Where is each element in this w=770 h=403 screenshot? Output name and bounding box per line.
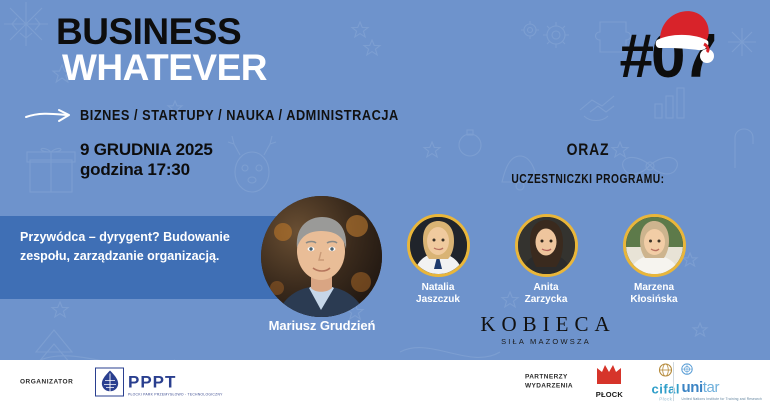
- participant-avatar: [407, 214, 470, 277]
- event-date: 9 GRUDNIA 2025: [80, 140, 213, 160]
- partners-label: PARTNERZY WYDARZENIA: [525, 372, 573, 391]
- arrow-right-icon: [24, 108, 72, 124]
- participant-name: Natalia Jaszczuk: [396, 282, 480, 306]
- event-topic: Przywódca – dyrygent? Budowanie zespołu,…: [20, 228, 282, 267]
- unitar-name-bold: uni: [681, 379, 702, 396]
- partners-label-line2: WYDARZENIA: [525, 383, 573, 390]
- speaker-avatar: [261, 196, 382, 317]
- plock-crown-icon: [596, 365, 622, 385]
- program-logo-tagline: SIŁA MAZOWSZA: [470, 337, 620, 346]
- tagline-row: BIZNES / STARTUPY / NAUKA / ADMINISTRACJ…: [24, 108, 442, 124]
- tagline-text: BIZNES / STARTUPY / NAUKA / ADMINISTRACJ…: [80, 108, 399, 124]
- event-time: godzina 17:30: [80, 160, 213, 180]
- pppt-full-name: PŁOCKI PARK PRZEMYSŁOWO - TECHNOLOGICZNY: [128, 392, 223, 396]
- program-logo-name: KOBIECA: [470, 314, 620, 335]
- footer-bar: ORGANIZATOR PPPT PŁOCKI PARK PRZEMYSŁOWO…: [0, 360, 770, 403]
- cifal-globe-icon: [658, 362, 673, 377]
- participants-list: Natalia Jaszczuk Anita Zarzycka: [396, 214, 696, 306]
- participant-last-name: Kłosińska: [630, 294, 677, 305]
- organizer-label: ORGANIZATOR: [20, 378, 73, 385]
- santa-hat-icon: [654, 8, 716, 66]
- partner-logo-plock: PŁOCK: [596, 365, 623, 399]
- pppt-leaf-icon: [95, 367, 124, 396]
- pppt-acronym: PPPT: [128, 373, 223, 390]
- title-line-business: BUSINESS: [56, 14, 267, 50]
- event-poster: BUSINESS WHATEVER BIZNES / STARTUPY / NA…: [0, 0, 770, 403]
- participant-name: Marzena Kłosińska: [612, 282, 696, 306]
- participant-last-name: Jaszczuk: [416, 294, 460, 305]
- pppt-wordmark: PPPT PŁOCKI PARK PRZEMYSŁOWO - TECHNOLOG…: [128, 373, 223, 396]
- participant-avatar: [623, 214, 686, 277]
- unitar-full-name: United Nations Institute for Training an…: [681, 397, 762, 402]
- partners-label-line1: PARTNERZY: [525, 373, 568, 380]
- participant-item: Anita Zarzycka: [504, 214, 588, 306]
- organizer-logo-pppt: PPPT PŁOCKI PARK PRZEMYSŁOWO - TECHNOLOG…: [95, 367, 223, 396]
- unitar-wordmark: unitar: [681, 380, 762, 395]
- participant-first-name: Natalia: [422, 282, 455, 293]
- participant-name: Anita Zarzycka: [504, 282, 588, 306]
- participant-first-name: Anita: [534, 282, 559, 293]
- participants-heading: ORAZ: [522, 140, 653, 160]
- speaker-name: Mariusz Grudzień: [255, 318, 389, 333]
- participant-avatar: [515, 214, 578, 277]
- event-datetime: 9 GRUDNIA 2025 godzina 17:30: [80, 140, 213, 180]
- un-emblem-icon: [681, 363, 693, 375]
- participants-subheading: UCZESTNICZKI PROGRAMU:: [490, 172, 687, 186]
- plock-wordmark: PŁOCK: [596, 390, 623, 399]
- participant-item: Natalia Jaszczuk: [396, 214, 480, 306]
- participant-item: Marzena Kłosińska: [612, 214, 696, 306]
- participant-last-name: Zarzycka: [525, 294, 568, 305]
- program-logo: KOBIECA SIŁA MAZOWSZA: [470, 314, 620, 346]
- unitar-name-light: tar: [703, 379, 719, 396]
- title-line-whatever: WHATEVER: [62, 50, 267, 86]
- poster-title: BUSINESS WHATEVER: [56, 14, 267, 87]
- partner-logo-unitar: unitar United Nations Institute for Trai…: [673, 362, 762, 402]
- participant-first-name: Marzena: [634, 282, 674, 293]
